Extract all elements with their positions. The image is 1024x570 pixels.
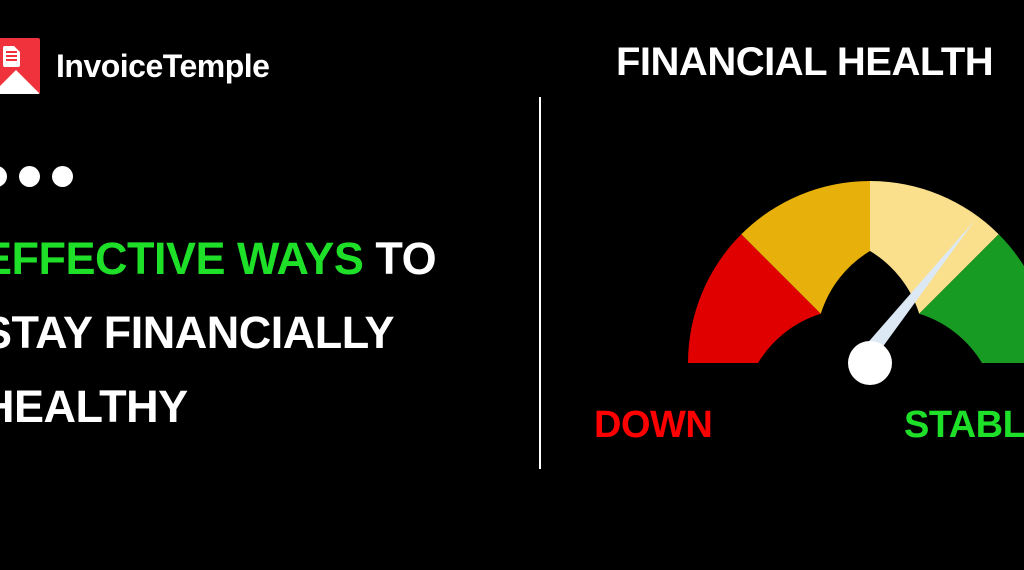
- headline: EFFECTIVE WAYS TO STAY FINANCIALLY HEALT…: [0, 222, 542, 444]
- mountain-triangle-shape: [0, 70, 40, 94]
- headline-accent-text: EFFECTIVE WAYS: [0, 233, 363, 284]
- dot-3: [52, 166, 73, 187]
- headline-line-2: STAY FINANCIALLY: [0, 296, 542, 370]
- gauge-label-stable: STABLE: [904, 406, 1024, 444]
- financial-health-gauge: [580, 140, 1024, 400]
- brand-row: InvoiceTemple: [0, 38, 269, 94]
- left-panel: InvoiceTemple EFFECTIVE WAYS TO STAY FIN…: [0, 0, 540, 570]
- dot-1: [0, 166, 7, 187]
- gauge-label-down: DOWN: [594, 406, 712, 444]
- right-panel: FINANCIAL HEALTH DOWN STABLE: [540, 0, 1024, 570]
- document-fold-corner: [14, 46, 20, 52]
- dot-2: [19, 166, 40, 187]
- headline-line-3: HEALTHY: [0, 370, 542, 444]
- headline-line-1: EFFECTIVE WAYS TO: [0, 222, 542, 296]
- gauge-labels: DOWN STABLE: [540, 398, 1024, 458]
- page-title: FINANCIAL HEALTH: [616, 38, 993, 86]
- gauge-needle-hub: [848, 341, 892, 385]
- headline-line-1-tail: TO: [363, 233, 436, 284]
- brand-name: InvoiceTemple: [56, 50, 269, 82]
- decorative-dots: [0, 166, 73, 187]
- document-glyph: [3, 46, 20, 67]
- invoice-document-icon: [0, 38, 40, 94]
- gauge-svg: [580, 140, 1024, 400]
